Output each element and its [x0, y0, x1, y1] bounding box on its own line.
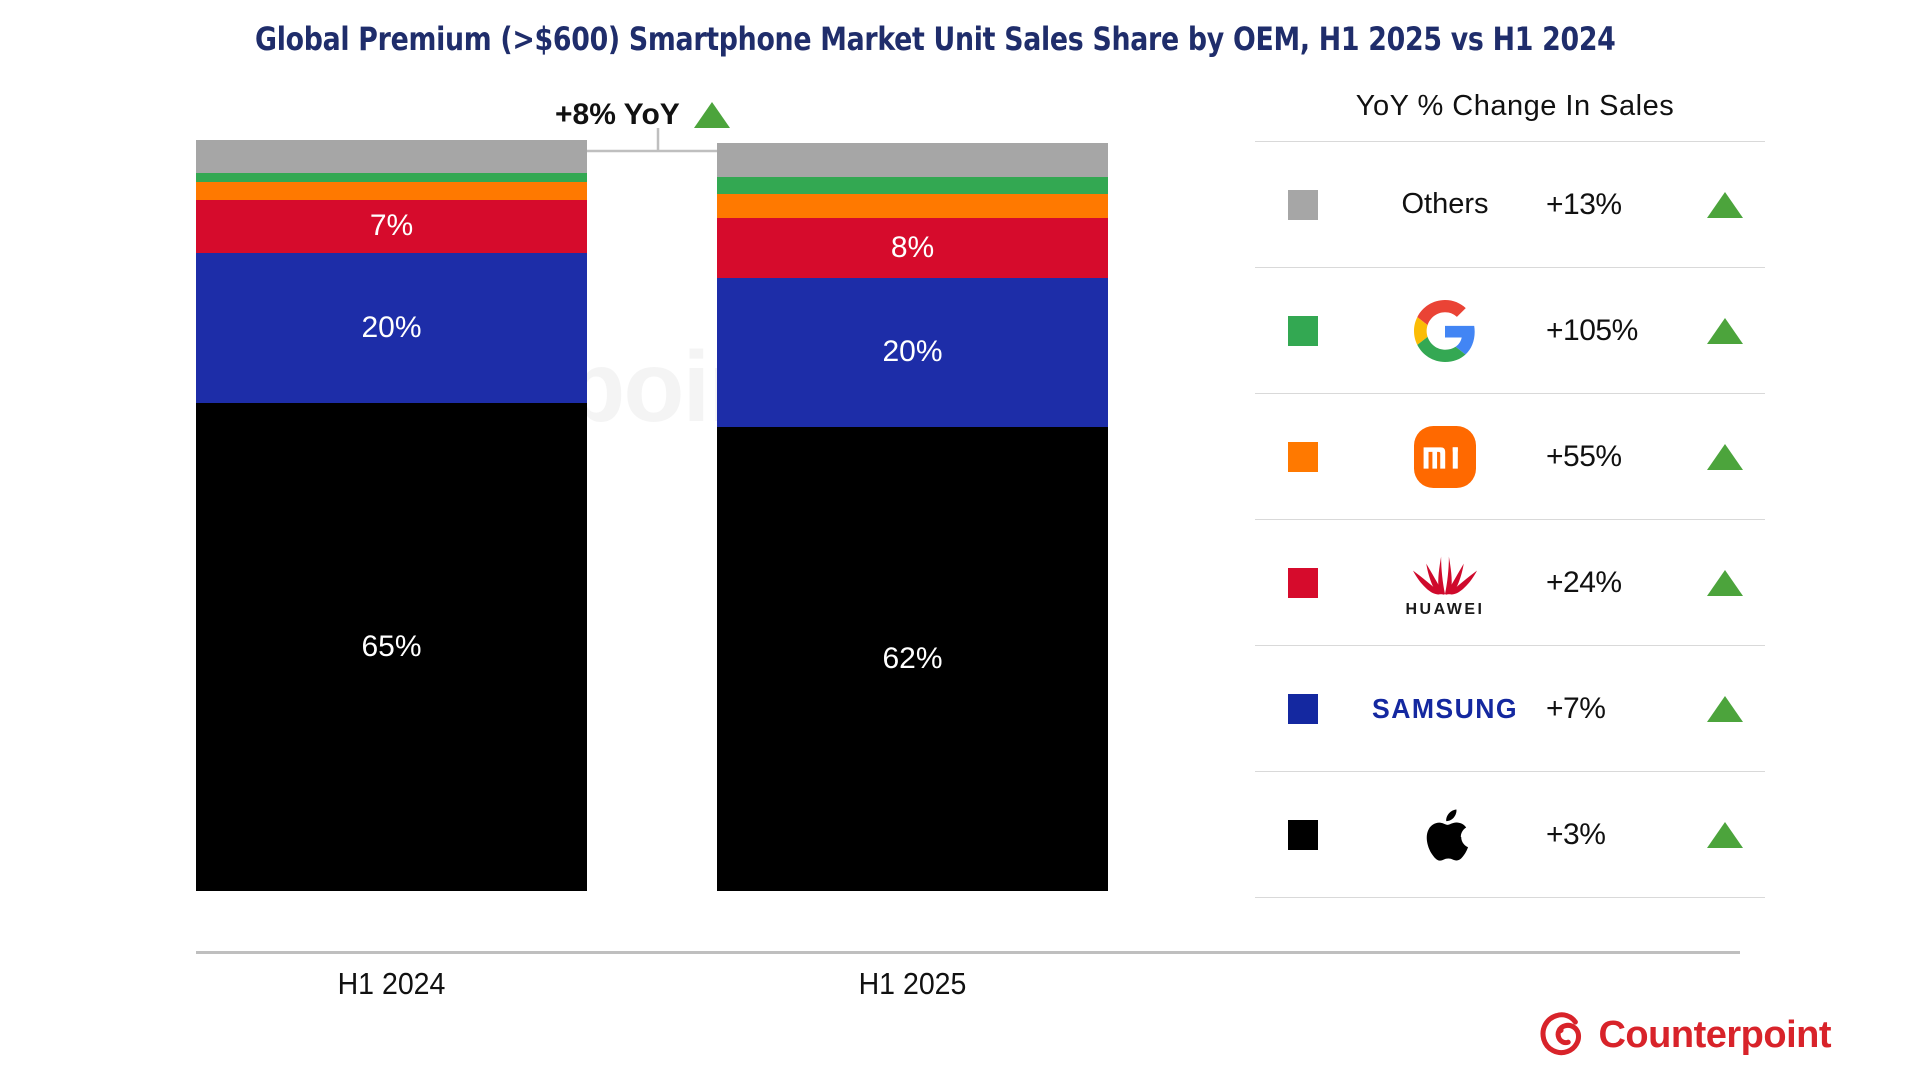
bar-segment-others[interactable]: [196, 140, 587, 173]
divider: [1255, 897, 1765, 898]
x-axis-line: [196, 951, 1740, 954]
swatch-cell: [1255, 568, 1350, 598]
color-swatch-xiaomi: [1288, 442, 1318, 472]
brand-cell-others: Others: [1350, 188, 1540, 221]
stacked-bar-h1-2024[interactable]: 7% 20% 65%: [196, 140, 587, 891]
legend-row-others[interactable]: Others +13%: [1255, 142, 1765, 267]
samsung-wordmark: Samsung: [1372, 693, 1518, 725]
brand-cell-xiaomi: [1350, 426, 1540, 488]
triangle-up-icon: [1707, 192, 1743, 218]
bar-segment-label: 20%: [882, 337, 942, 367]
yoy-value-apple: +3%: [1540, 818, 1685, 852]
bar-segment-xiaomi[interactable]: [196, 182, 587, 200]
triangle-up-icon: [1707, 822, 1743, 848]
triangle-up-icon: [1707, 570, 1743, 596]
stacked-bar-h1-2025[interactable]: 8% 20% 62%: [717, 143, 1108, 891]
bar-segment-huawei[interactable]: 7%: [196, 200, 587, 253]
huawei-wordmark: HUAWEI: [1406, 601, 1485, 619]
brand-cell-google: [1350, 300, 1540, 362]
arrow-cell: [1685, 318, 1765, 344]
color-swatch-samsung: [1288, 694, 1318, 724]
swatch-cell: [1255, 190, 1350, 220]
swatch-cell: [1255, 442, 1350, 472]
bar-segment-samsung[interactable]: 20%: [196, 253, 587, 403]
counterpoint-logo: Counterpoint: [1538, 1012, 1831, 1058]
bar-segment-google[interactable]: [196, 173, 587, 182]
bar-segment-others[interactable]: [717, 143, 1108, 177]
brand-cell-apple: [1350, 804, 1540, 866]
bar-segment-label: 65%: [361, 632, 421, 662]
x-axis-tick-label: H1 2024: [212, 966, 572, 1002]
arrow-cell: [1685, 570, 1765, 596]
brand-cell-huawei: HUAWEI: [1350, 547, 1540, 619]
triangle-up-icon: [1707, 696, 1743, 722]
legend-row-apple[interactable]: +3%: [1255, 772, 1765, 897]
swatch-cell: [1255, 820, 1350, 850]
yoy-value-huawei: +24%: [1540, 566, 1685, 600]
color-swatch-apple: [1288, 820, 1318, 850]
legend-row-google[interactable]: +105%: [1255, 268, 1765, 393]
bar-segment-label: 20%: [361, 313, 421, 343]
bar-segment-google[interactable]: [717, 177, 1108, 194]
color-swatch-others: [1288, 190, 1318, 220]
brand-cell-samsung: Samsung: [1355, 693, 1536, 725]
bar-segment-samsung[interactable]: 20%: [717, 278, 1108, 428]
swatch-cell: [1255, 694, 1350, 724]
counterpoint-wordmark: Counterpoint: [1598, 1014, 1831, 1057]
apple-icon: [1419, 804, 1471, 866]
arrow-cell: [1685, 696, 1765, 722]
bar-segment-huawei[interactable]: 8%: [717, 218, 1108, 278]
yoy-value-google: +105%: [1540, 314, 1685, 348]
legend-row-samsung[interactable]: Samsung +7%: [1255, 646, 1765, 771]
legend-row-xiaomi[interactable]: +55%: [1255, 394, 1765, 519]
huawei-icon: [1406, 547, 1484, 599]
google-g-icon: [1414, 300, 1476, 362]
arrow-cell: [1685, 192, 1765, 218]
legend-panel: YoY % Change In Sales Others +13% +105%: [1255, 90, 1775, 898]
color-swatch-huawei: [1288, 568, 1318, 598]
bar-segment-apple[interactable]: 65%: [196, 403, 587, 891]
bar-segment-label: 7%: [370, 211, 413, 241]
yoy-value-others: +13%: [1540, 188, 1685, 222]
bar-segment-label: 8%: [891, 233, 934, 263]
legend-title: YoY % Change In Sales: [1255, 90, 1775, 123]
counterpoint-mark-icon: [1538, 1012, 1584, 1058]
yoy-value-samsung: +7%: [1540, 692, 1685, 726]
yoy-value-xiaomi: +55%: [1540, 440, 1685, 474]
triangle-up-icon: [1707, 318, 1743, 344]
others-label: Others: [1401, 188, 1488, 221]
xiaomi-mi-icon: [1414, 426, 1476, 488]
arrow-cell: [1685, 444, 1765, 470]
x-axis-tick-label: H1 2025: [733, 966, 1093, 1002]
bar-segment-apple[interactable]: 62%: [717, 427, 1108, 891]
swatch-cell: [1255, 316, 1350, 346]
triangle-up-icon: [1707, 444, 1743, 470]
color-swatch-google: [1288, 316, 1318, 346]
bar-segment-label: 62%: [882, 644, 942, 674]
chart-plot-area: +8% YoY 7% 20% 65% 8% 20% 62%: [0, 0, 1190, 1020]
arrow-cell: [1685, 822, 1765, 848]
legend-row-huawei[interactable]: HUAWEI +24%: [1255, 520, 1765, 645]
bar-segment-xiaomi[interactable]: [717, 194, 1108, 218]
